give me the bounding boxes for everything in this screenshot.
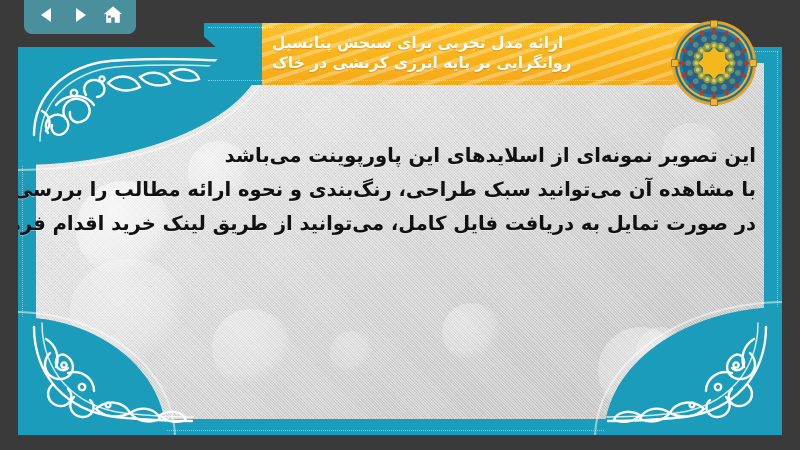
next-slide-button[interactable] xyxy=(67,2,93,28)
persian-rosette-medallion-icon xyxy=(671,20,757,106)
previous-slide-button[interactable] xyxy=(34,2,60,28)
title-line-1: ارائه مدل تجربی برای سنجش پتانسیل xyxy=(272,34,563,54)
home-icon xyxy=(102,4,124,26)
slide-frame: این تصویر نمونه‌ای از اسلایدهای این پاور… xyxy=(18,47,782,435)
banner-arrow-notch xyxy=(204,23,262,85)
bokeh-circle xyxy=(330,331,372,373)
next-arrow-icon xyxy=(70,5,90,25)
persian-rosette-medallion xyxy=(671,20,757,106)
bokeh-circle xyxy=(442,303,500,361)
body-line-2: با مشاهده آن می‌توانید سبک طراحی، رنگ‌بن… xyxy=(44,173,756,207)
slide-title-banner: ارائه مدل تجربی برای سنجش پتانسیل روانگر… xyxy=(204,23,724,85)
presentation-viewer-toolbar xyxy=(24,0,136,34)
title-line-2: روانگرایی بر پایه انرژی کرنشی در خاک xyxy=(272,54,571,74)
body-line-3: در صورت تمایل به دریافت فایل کامل، می‌تو… xyxy=(44,207,756,241)
home-button[interactable] xyxy=(100,2,126,28)
previous-arrow-icon xyxy=(37,5,57,25)
bokeh-circle xyxy=(212,309,290,387)
banner-title-body: ارائه مدل تجربی برای سنجش پتانسیل روانگر… xyxy=(262,23,724,85)
slide-body-text: این تصویر نمونه‌ای از اسلایدهای این پاور… xyxy=(44,139,756,241)
bokeh-circle xyxy=(636,327,686,377)
body-line-1: این تصویر نمونه‌ای از اسلایدهای این پاور… xyxy=(44,139,756,173)
